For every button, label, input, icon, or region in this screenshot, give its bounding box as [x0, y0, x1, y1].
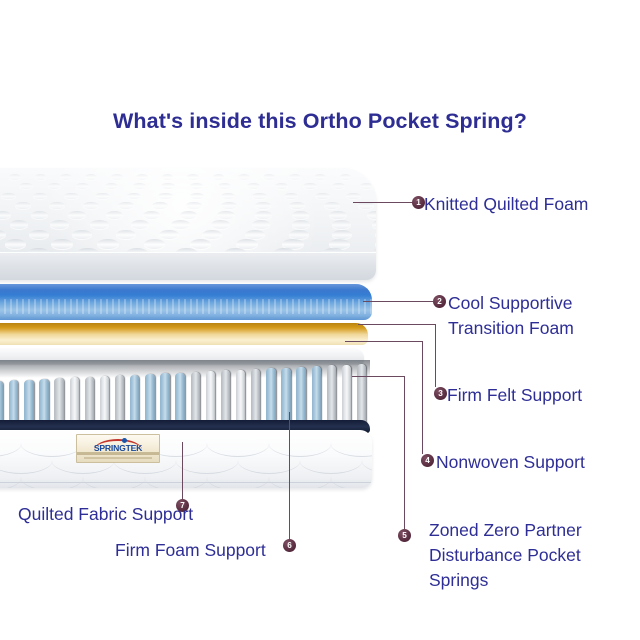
- quilt-dimple: [372, 220, 376, 229]
- leader-line-1: [353, 202, 413, 203]
- pocket-spring: [266, 368, 275, 425]
- quilt-dimple: [180, 211, 197, 219]
- quilt-dimple: [284, 193, 299, 200]
- brand-tag: SPRINGTEK: [76, 434, 160, 463]
- quilt-dimple: [85, 174, 97, 180]
- quilt-dimple: [238, 174, 250, 180]
- blue-foam-gloss: [0, 284, 372, 296]
- quilt-dimple: [35, 174, 47, 180]
- quilt-dimple: [162, 174, 174, 180]
- quilt-dimple: [158, 193, 173, 200]
- pocket-spring: [342, 365, 351, 425]
- leader-line-2: [363, 301, 433, 302]
- quilt-dimple: [76, 183, 89, 189]
- quilt-dimple: [190, 183, 203, 189]
- quilt-dimple: [64, 193, 79, 200]
- pocket-spring: [54, 378, 63, 425]
- quilt-dimple: [245, 230, 265, 239]
- quilt-dimple: [118, 202, 134, 210]
- quilt-dimple: [51, 239, 72, 249]
- quilt-dimple: [346, 193, 361, 200]
- pocket-spring: [236, 370, 245, 425]
- quilt-dimple: [60, 174, 72, 180]
- base-quilt-wave: [268, 468, 332, 488]
- quilt-dimple: [247, 183, 260, 189]
- quilt-dimple: [161, 183, 174, 189]
- leader-line-5-horizontal: [352, 376, 405, 377]
- layer-pocket-springs: [0, 360, 370, 425]
- pocket-spring: [145, 374, 154, 425]
- quilt-dimple: [106, 211, 123, 219]
- mattress-cutaway-illustration: SPRINGTEK: [0, 168, 388, 478]
- quilt-dimple: [5, 239, 26, 249]
- foam-edge-rim: [0, 252, 376, 280]
- brand-subline-1: [77, 452, 159, 455]
- quilt-dimple: [315, 193, 330, 200]
- quilt-dimple: [255, 202, 271, 210]
- pocket-spring: [0, 381, 3, 425]
- quilt-dimple: [314, 174, 326, 180]
- callout-label-6: Firm Foam Support: [115, 538, 266, 563]
- quilt-dimple: [252, 193, 267, 200]
- pocket-spring: [312, 366, 321, 425]
- pocket-spring: [191, 372, 200, 425]
- callout-label-5: Zoned Zero Partner Disturbance Pocket Sp…: [429, 518, 582, 593]
- quilt-dimple: [49, 202, 65, 210]
- blue-foam-speckle: [0, 299, 372, 313]
- quilt-dimple: [221, 202, 237, 210]
- quilt-dimple: [127, 193, 142, 200]
- pocket-spring: [39, 379, 48, 425]
- quilt-dimple: [190, 193, 205, 200]
- quilt-dimple: [33, 193, 48, 200]
- leader-line-6: [289, 412, 290, 539]
- leader-line-4-horizontal: [345, 341, 423, 342]
- bullet-3: 3: [434, 387, 447, 400]
- leader-line-5-vertical: [404, 376, 405, 529]
- quilt-dimple: [255, 211, 272, 219]
- quilt-dimple: [143, 211, 160, 219]
- bullet-2: 2: [433, 295, 446, 308]
- base-quilt-wave: [330, 468, 372, 488]
- quilt-dimple: [292, 211, 309, 219]
- quilt-dimple: [15, 202, 31, 210]
- quilt-dimple: [10, 220, 29, 229]
- pocket-spring: [206, 371, 215, 425]
- quilt-dimple: [105, 183, 118, 189]
- pocket-spring: [251, 369, 260, 425]
- quilt-dimple: [0, 211, 11, 219]
- quilt-dimple: [202, 230, 222, 239]
- pocket-spring: [9, 380, 18, 425]
- quilt-dimple: [116, 230, 136, 239]
- quilt-dimple: [375, 230, 376, 239]
- pocket-spring: [24, 380, 33, 425]
- callout-label-2: Cool Supportive Transition Foam: [448, 291, 574, 341]
- quilt-dimple: [367, 211, 376, 219]
- quilt-dimple: [221, 193, 236, 200]
- quilt-dimple-texture: [0, 168, 376, 254]
- quilt-dimple: [218, 183, 231, 189]
- base-quilt-wave: [20, 468, 84, 488]
- quilt-dimple: [303, 183, 316, 189]
- quilt-dimple: [211, 220, 230, 229]
- leader-line-4-vertical: [422, 341, 423, 454]
- quilt-dimple: [95, 193, 110, 200]
- quilt-dimple: [332, 220, 351, 229]
- quilt-dimple: [292, 220, 311, 229]
- quilt-dimple: [275, 183, 288, 189]
- pocket-spring: [115, 375, 124, 425]
- quilt-dimple: [131, 220, 150, 229]
- bullet-4: 4: [421, 454, 434, 467]
- leader-line-7: [182, 442, 183, 499]
- pocket-spring: [357, 364, 366, 425]
- bullet-6: 6: [283, 539, 296, 552]
- quilt-dimple: [289, 202, 305, 210]
- quilt-dimple: [48, 183, 61, 189]
- quilt-dimple: [213, 174, 225, 180]
- pocket-spring: [85, 377, 94, 425]
- quilt-dimple: [289, 230, 309, 239]
- pocket-spring: [100, 376, 109, 425]
- quilt-dimple: [144, 239, 165, 249]
- mattress-infographic: What's inside this Ortho Pocket Spring?: [0, 0, 640, 640]
- base-quilt-wave: [144, 468, 208, 488]
- callout-label-3: Firm Felt Support: [447, 383, 582, 408]
- bullet-5: 5: [398, 529, 411, 542]
- quilt-dimple: [50, 220, 69, 229]
- quilt-dimple: [72, 230, 92, 239]
- quilt-dimple: [1, 193, 16, 200]
- quilt-dimple: [133, 183, 146, 189]
- layer-quilted-fabric-base: [0, 430, 372, 488]
- pocket-spring: [160, 373, 169, 425]
- leader-line-3-vertical: [435, 324, 436, 387]
- quilt-dimple: [19, 183, 32, 189]
- quilt-dimple: [365, 174, 376, 180]
- quilt-dimple: [29, 230, 49, 239]
- layer-firm-felt-support: [0, 323, 368, 345]
- layer-cool-supportive-transition-foam: [0, 284, 372, 320]
- quilt-dimple: [190, 239, 211, 249]
- quilt-dimple: [136, 174, 148, 180]
- quilt-dimple: [9, 174, 21, 180]
- pocket-spring: [70, 377, 79, 425]
- quilt-dimple: [0, 230, 6, 239]
- quilt-dimple: [217, 211, 234, 219]
- quilt-dimple: [97, 239, 118, 249]
- quilt-dimple: [90, 220, 109, 229]
- quilt-dimple: [186, 202, 202, 210]
- quilt-dimple: [360, 183, 373, 189]
- page-title: What's inside this Ortho Pocket Spring?: [0, 109, 640, 134]
- quilt-dimple: [152, 202, 168, 210]
- callout-label-1: Knitted Quilted Foam: [424, 192, 588, 217]
- pocket-spring: [175, 373, 184, 426]
- quilt-dimple: [332, 183, 345, 189]
- quilt-dimple: [289, 174, 301, 180]
- pocket-spring: [130, 375, 139, 425]
- leader-line-3-horizontal: [358, 324, 436, 325]
- pocket-spring: [296, 367, 305, 425]
- quilt-dimple: [375, 239, 376, 249]
- quilt-dimple: [252, 220, 271, 229]
- callout-label-7: Quilted Fabric Support: [18, 502, 193, 527]
- base-quilt-wave: [206, 468, 270, 488]
- quilt-dimple: [340, 174, 352, 180]
- brand-subline-2: [84, 457, 153, 459]
- quilt-dimple: [159, 230, 179, 239]
- quilt-dimple: [332, 230, 352, 239]
- pocket-spring: [327, 365, 336, 425]
- quilt-dimple: [171, 220, 190, 229]
- quilt-dimple: [324, 202, 340, 210]
- quilt-dimple: [329, 211, 346, 219]
- pocket-spring: [221, 370, 230, 425]
- quilt-dimple: [31, 211, 48, 219]
- quilt-dimple: [187, 174, 199, 180]
- base-quilt-wave: [0, 468, 22, 488]
- layer-knitted-quilted-foam: [0, 168, 376, 280]
- quilt-dimple: [263, 174, 275, 180]
- callout-label-4: Nonwoven Support: [436, 450, 585, 475]
- quilt-dimple: [68, 211, 85, 219]
- base-quilt-wave: [82, 468, 146, 488]
- quilt-dimple: [83, 202, 99, 210]
- quilt-dimple: [111, 174, 123, 180]
